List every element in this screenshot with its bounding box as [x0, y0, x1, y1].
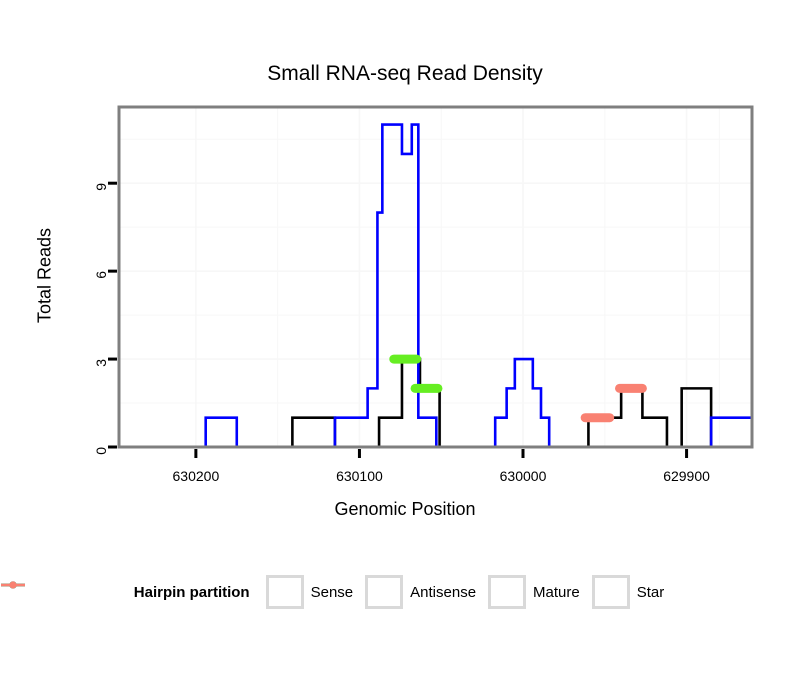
legend-item-sense[interactable]: Sense — [266, 575, 354, 609]
x-axis-tick-label: 630200 — [151, 468, 241, 484]
legend: Hairpin partition SenseAntisenseMatureSt… — [0, 575, 810, 609]
legend-label: Star — [637, 584, 665, 601]
x-axis-tick-label: 630000 — [478, 468, 568, 484]
legend-label: Mature — [533, 584, 580, 601]
legend-key-icon — [266, 575, 304, 609]
y-axis-tick-label: 0 — [93, 447, 109, 477]
legend-item-mature[interactable]: Mature — [488, 575, 580, 609]
legend-title: Hairpin partition — [134, 584, 250, 601]
legend-item-antisense[interactable]: Antisense — [365, 575, 476, 609]
y-axis-title: Total Reads — [35, 176, 56, 376]
panel-background — [119, 107, 752, 447]
x-axis-tick-label: 630100 — [314, 468, 404, 484]
legend-key-icon — [365, 575, 403, 609]
legend-items: SenseAntisenseMatureStar — [266, 575, 677, 609]
chart-figure: Small RNA-seq Read Density Total Reads G… — [0, 0, 810, 690]
legend-label: Antisense — [410, 584, 476, 601]
legend-key-icon — [488, 575, 526, 609]
x-axis-tick-label: 629900 — [642, 468, 732, 484]
y-axis-tick-label: 6 — [93, 271, 109, 301]
x-axis-title: Genomic Position — [0, 499, 810, 520]
legend-item-star[interactable]: Star — [592, 575, 665, 609]
legend-label: Sense — [311, 584, 354, 601]
legend-key-icon — [592, 575, 630, 609]
y-axis-tick-label: 9 — [93, 183, 109, 213]
y-axis-tick-label: 3 — [93, 359, 109, 389]
